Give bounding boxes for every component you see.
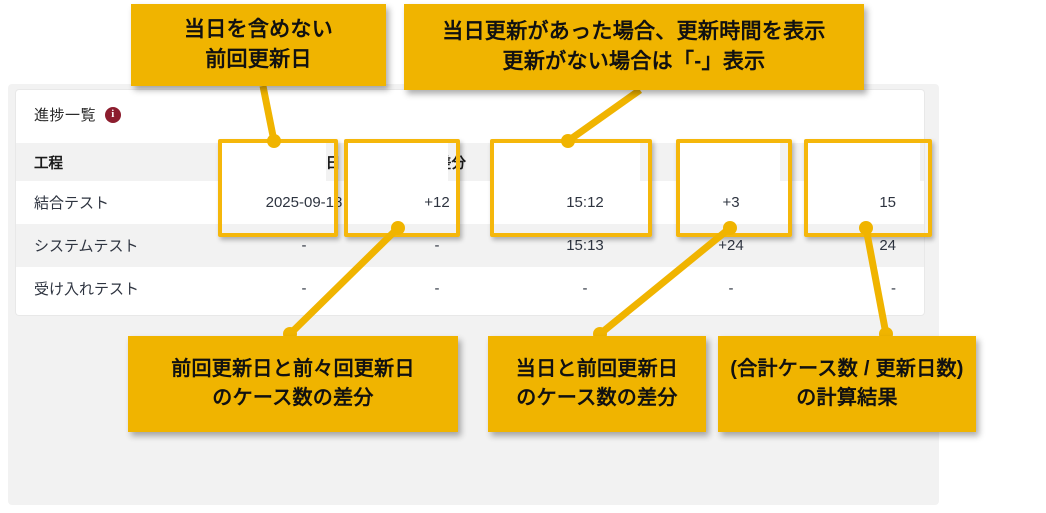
cell-avg-progress: - (792, 267, 924, 310)
cell-diff-today: - (670, 267, 792, 310)
callout-line-1: 当日更新があった場合、更新時間を表示 (442, 17, 825, 47)
cell-avg-progress: 15 (792, 181, 924, 224)
cell-diff-prev: - (374, 267, 500, 310)
callout-line-1: (合計ケース数 / 更新日数) (730, 355, 964, 384)
callout-last-update-date: 当日を含めない 前回更新日 (131, 4, 386, 86)
cell-diff-prev: - (374, 224, 500, 267)
callout-today-update-time: 当日更新があった場合、更新時間を表示 更新がない場合は「-」表示 (404, 4, 864, 90)
callout-line-2: 前回更新日 (205, 45, 312, 75)
info-icon[interactable]: i (105, 107, 121, 123)
screenshot-stage: 進捗一覧 i 工程 前回更新日 進捗差分 本日更新時間 進捗差分 平均進捗 (0, 0, 1046, 513)
cell-diff-prev: +12 (374, 181, 500, 224)
cell-last-update-date: 2025-09-18 (234, 181, 374, 224)
column-header-diff-today[interactable]: 進捗差分 (670, 143, 792, 181)
callout-line-2: のケース数の差分 (516, 384, 677, 413)
cell-last-update-date: - (234, 224, 374, 267)
column-header-avg-progress[interactable]: 平均進捗 (792, 143, 924, 181)
page-title: 進捗一覧 (34, 104, 96, 125)
column-header-process[interactable]: 工程 (16, 143, 234, 181)
cell-process: 受け入れテスト (16, 267, 234, 310)
cell-diff-today: +3 (670, 181, 792, 224)
callout-line-1: 当日を含めない (184, 15, 333, 45)
callout-line-1: 前回更新日と前々回更新日 (171, 355, 415, 384)
column-header-diff-prev[interactable]: 進捗差分 (374, 143, 500, 181)
cell-last-update-date: - (234, 267, 374, 310)
callout-diff-prev: 前回更新日と前々回更新日 のケース数の差分 (128, 336, 458, 432)
callout-line-2: のケース数の差分 (212, 384, 373, 413)
column-header-last-update-date[interactable]: 前回更新日 (234, 143, 374, 181)
table-row[interactable]: 受け入れテスト - - - - - (16, 267, 924, 310)
callout-diff-today: 当日と前回更新日 のケース数の差分 (488, 336, 706, 432)
progress-list-card: 進捗一覧 i 工程 前回更新日 進捗差分 本日更新時間 進捗差分 平均進捗 (16, 90, 924, 315)
cell-today-update-time: 15:13 (500, 224, 670, 267)
table-row[interactable]: システムテスト - - 15:13 +24 24 (16, 224, 924, 267)
progress-table: 工程 前回更新日 進捗差分 本日更新時間 進捗差分 平均進捗 結合テスト 202… (16, 143, 924, 310)
callout-avg-progress: (合計ケース数 / 更新日数) の計算結果 (718, 336, 976, 432)
cell-avg-progress: 24 (792, 224, 924, 267)
cell-process: システムテスト (16, 224, 234, 267)
callout-line-2: の計算結果 (796, 384, 898, 413)
cell-today-update-time: - (500, 267, 670, 310)
table-body: 結合テスト 2025-09-18 +12 15:12 +3 15 システムテスト… (16, 181, 924, 310)
table-row[interactable]: 結合テスト 2025-09-18 +12 15:12 +3 15 (16, 181, 924, 224)
cell-diff-today: +24 (670, 224, 792, 267)
callout-line-2: 更新がない場合は「-」表示 (503, 47, 766, 77)
table-header-row: 工程 前回更新日 進捗差分 本日更新時間 進捗差分 平均進捗 (16, 143, 924, 181)
column-header-today-update-time[interactable]: 本日更新時間 (500, 143, 670, 181)
card-header: 進捗一覧 i (34, 104, 121, 125)
callout-line-1: 当日と前回更新日 (516, 355, 678, 384)
cell-process: 結合テスト (16, 181, 234, 224)
table-head: 工程 前回更新日 進捗差分 本日更新時間 進捗差分 平均進捗 (16, 143, 924, 181)
cell-today-update-time: 15:12 (500, 181, 670, 224)
